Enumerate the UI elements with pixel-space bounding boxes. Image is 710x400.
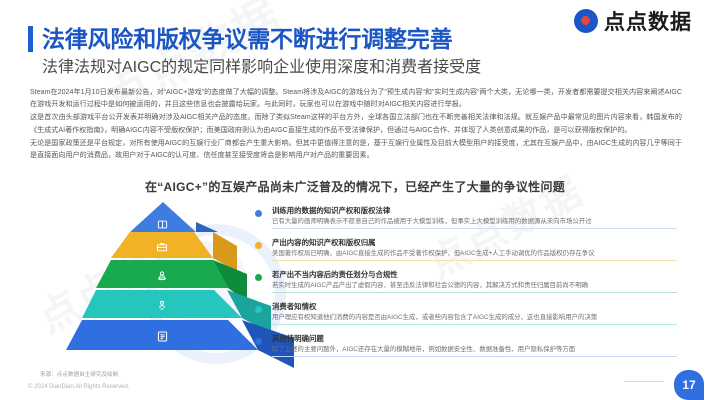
page-number: 17 — [674, 370, 704, 400]
list-item-description: 除了上述的主要问题外，AIGC还存在大量的模糊地带，例如数据安全性、数据准备性、… — [272, 344, 575, 353]
list-item-description: 已有大量的画师明确表示不愿意自己的作品被用于大模型训练，但事实上大模型训练用的数… — [272, 216, 592, 225]
body-text: Steam在2024年1月10日发布最新公告，对“AIGC+游戏”的态度做了大幅… — [30, 86, 682, 162]
pyramid-chart: 训练用的数据的知识产权和版权法律 已有大量的画师明确表示不愿意自己的作品被用于大… — [0, 196, 710, 366]
list-item: 产出内容的知识产权和版权归属 美国著作权局已明确，由AIGC直接生成的作品不受著… — [255, 236, 687, 267]
paragraph: 无论是国家政策还是平台规定，对所有使用AIGC的互娱行业厂商都会产生重大影响。但… — [30, 137, 682, 161]
pyramid-layer-4-icon — [151, 297, 173, 313]
diandian-logo-icon — [574, 9, 598, 33]
pyramid-layer-1-icon — [151, 216, 173, 232]
list-item-title: 消费者知情权 — [272, 301, 316, 312]
list-item-divider — [272, 324, 677, 325]
bullet-dot — [255, 210, 262, 217]
pyramid-layer-2-icon — [151, 239, 173, 255]
list-item-description: 若实时生成的AIGC产品产出了虚假内容、甚至违反法律和社会公德的内容，其解决方式… — [272, 280, 588, 289]
list-item-title: 训练用的数据的知识产权和版权法律 — [272, 205, 390, 216]
list-item: 若产出不当内容后的责任划分与合规性 若实时生成的AIGC产品产出了虚假内容、甚至… — [255, 268, 687, 299]
list-item-divider — [272, 356, 677, 357]
list-item: 消费者知情权 用户理应有权知道他们消费的内容是否由AIGC生成，或者些内容包含了… — [255, 300, 687, 331]
paragraph: 这是首次由头部游戏平台公开发表并明确对涉及AIGC相关产品的态度。而除了类似St… — [30, 111, 682, 135]
page-number-rule — [624, 381, 664, 382]
pyramid-layer-5-icon — [151, 328, 173, 344]
copyright-note: © 2024 DianDian All Rights Reserved. — [28, 384, 129, 390]
slide: 点点数据 点点数据 点点数据 法律风险和版权争议需不断进行调整完善 法律法规对A… — [0, 0, 710, 400]
page-subtitle: 法律法规对AIGC的规定同样影响企业使用深度和消费者接受度 — [42, 53, 481, 77]
list-item-title: 其他待明确问题 — [272, 333, 324, 344]
list-item: 其他待明确问题 除了上述的主要问题外，AIGC还存在大量的模糊地带，例如数据安全… — [255, 332, 687, 363]
list-item: 训练用的数据的知识产权和版权法律 已有大量的画师明确表示不愿意自己的作品被用于大… — [255, 204, 687, 235]
pyramid-layer-3-icon — [151, 267, 173, 283]
bullet-dot — [255, 306, 262, 313]
section-heading: 在“AIGC+”的互娱产品尚未广泛普及的情况下，已经产生了大量的争议性问题 — [0, 178, 710, 195]
page-title: 法律风险和版权争议需不断进行调整完善 — [42, 20, 452, 54]
bullet-dot — [255, 274, 262, 281]
title-accent-bar — [28, 26, 33, 52]
pyramid-graphic — [96, 202, 276, 368]
list-item-divider — [272, 228, 677, 229]
list-item-title: 若产出不当内容后的责任划分与合规性 — [272, 269, 398, 280]
issue-list: 训练用的数据的知识产权和版权法律 已有大量的画师明确表示不愿意自己的作品被用于大… — [255, 204, 687, 364]
pyramid-layer-1-side — [196, 222, 218, 232]
bullet-dot — [255, 242, 262, 249]
list-item-divider — [272, 292, 677, 293]
list-item-divider — [272, 260, 677, 261]
list-item-description: 用户理应有权知道他们消费的内容是否由AIGC生成，或者些内容包含了AIGC生成的… — [272, 312, 597, 321]
brand-name: 点点数据 — [604, 6, 692, 36]
brand-logo: 点点数据 — [574, 6, 692, 36]
source-note: 来源：点点数据自主研究及绘制 — [40, 370, 118, 378]
list-item-title: 产出内容的知识产权和版权归属 — [272, 237, 375, 248]
paragraph: Steam在2024年1月10日发布最新公告，对“AIGC+游戏”的态度做了大幅… — [30, 86, 682, 110]
bullet-dot — [255, 338, 262, 345]
list-item-description: 美国著作权局已明确，由AIGC直接生成的作品不受著作权保护，但AIGC生成+人工… — [272, 248, 595, 257]
